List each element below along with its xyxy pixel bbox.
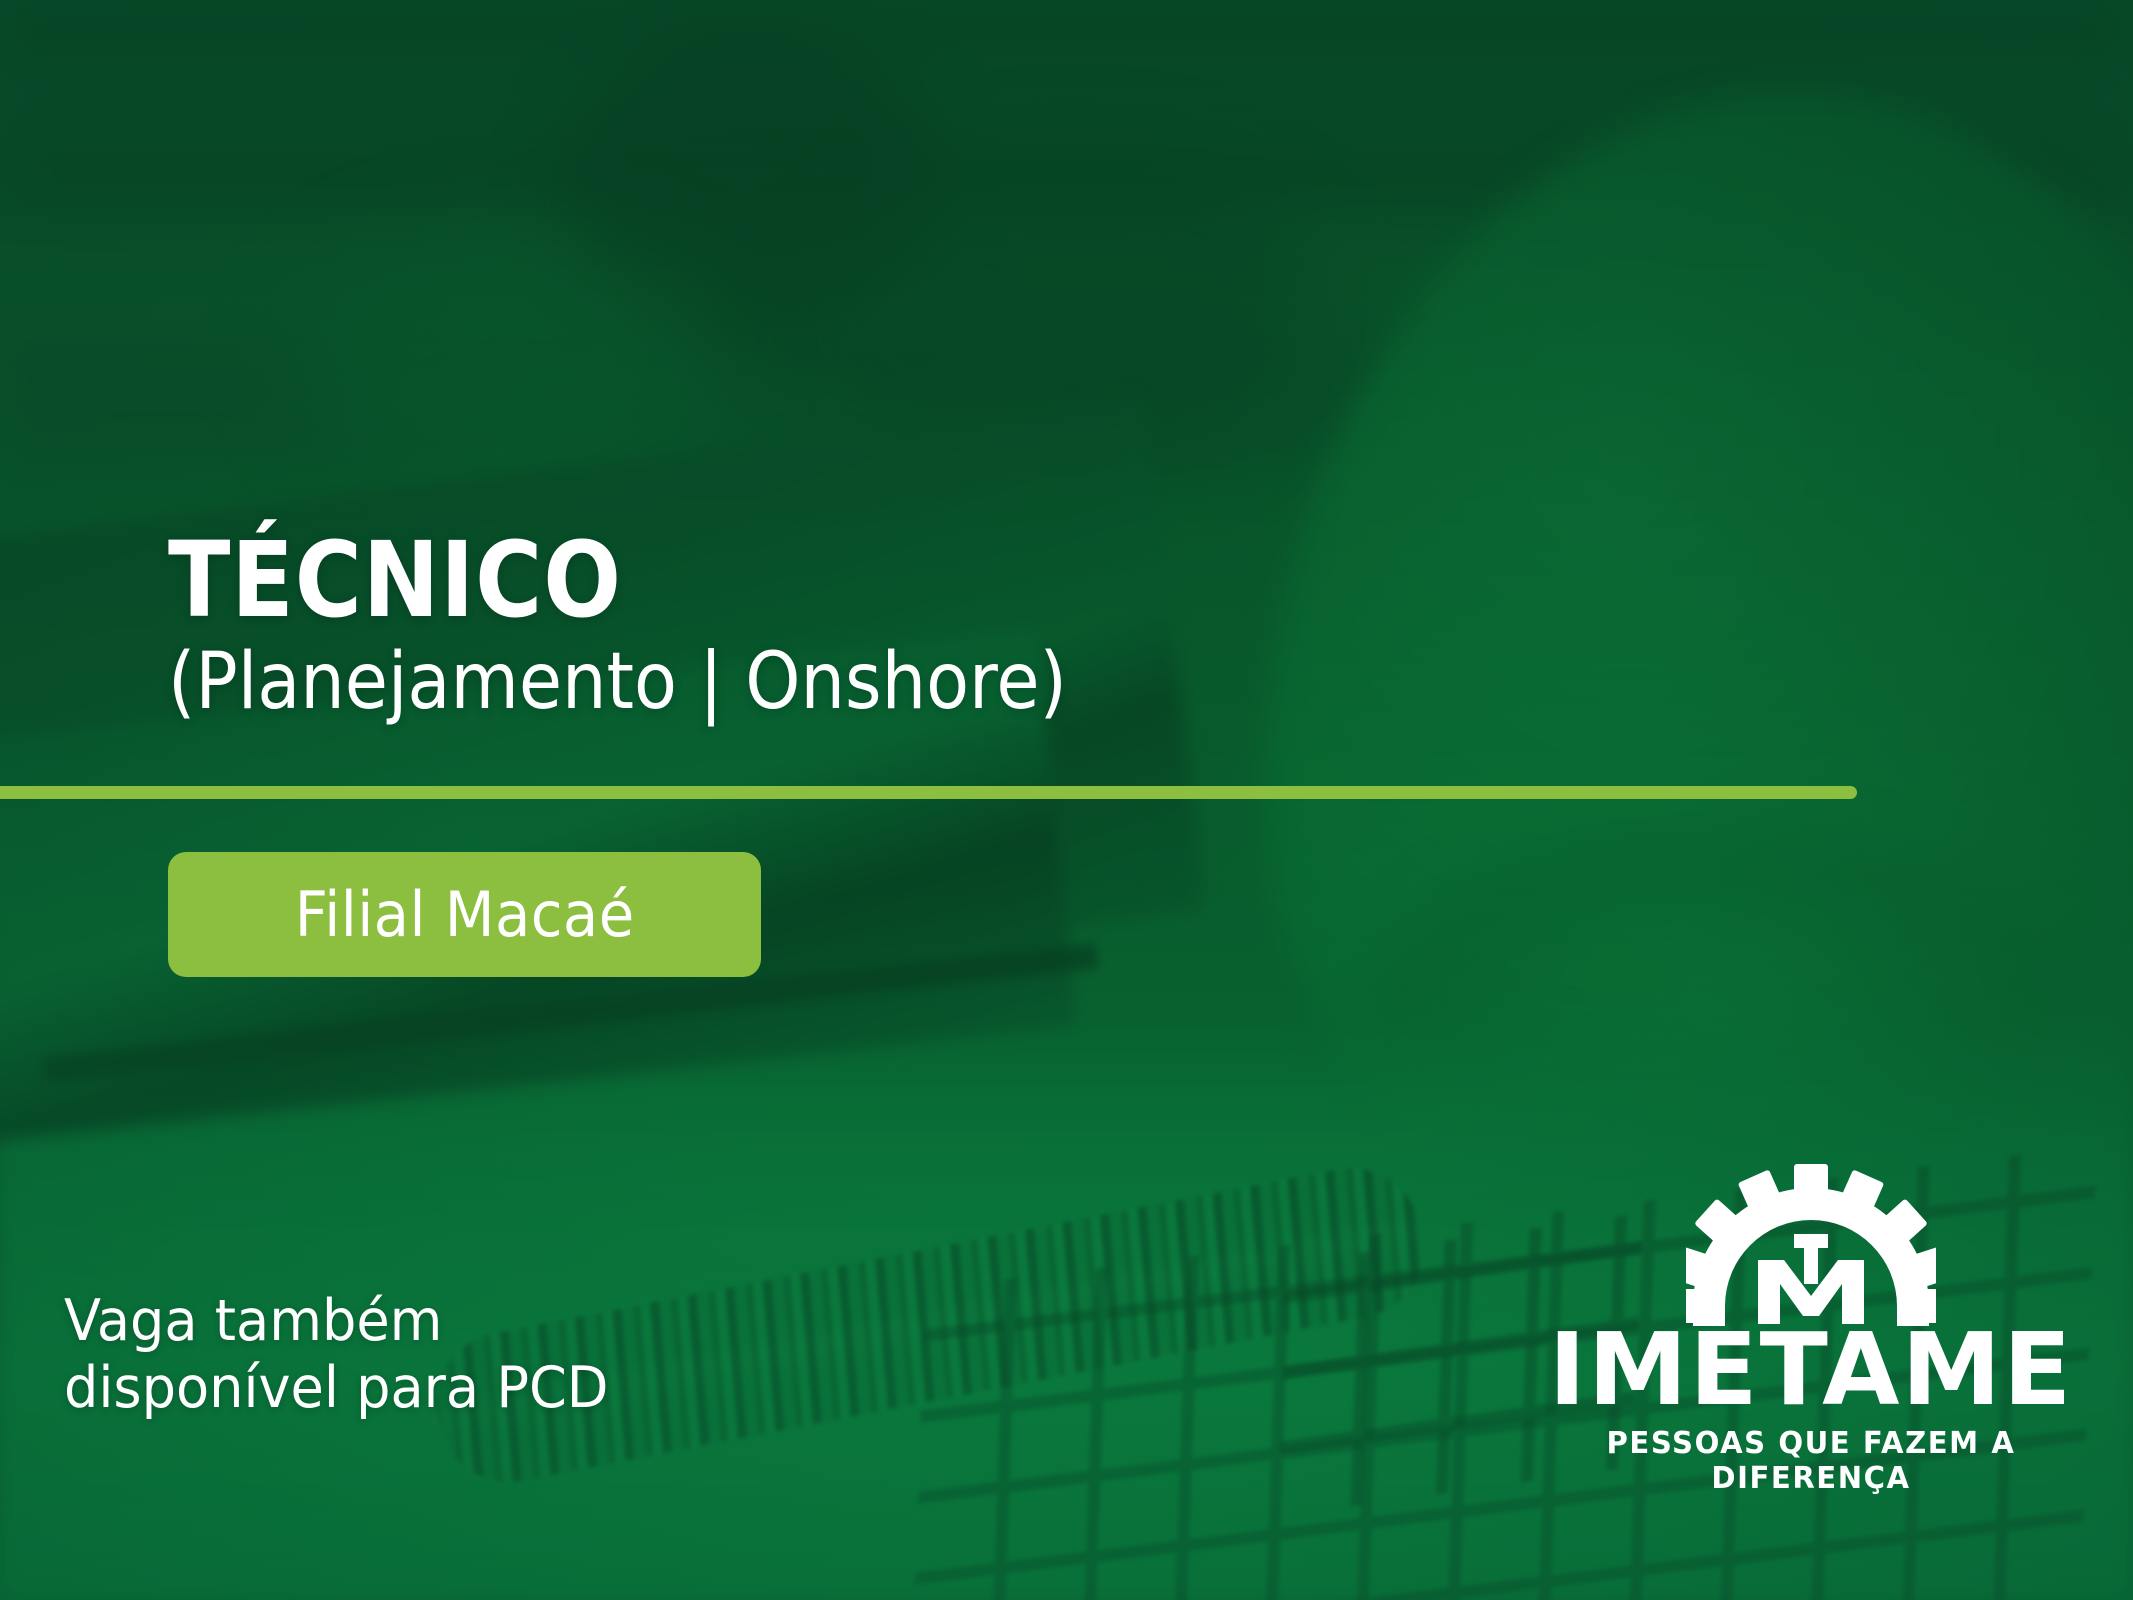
branch-badge: Filial Macaé [168, 852, 761, 977]
imetame-logo: IMETAME PESSOAS QUE FAZEM A DIFERENÇA [1541, 1156, 2081, 1496]
accent-divider [0, 786, 1857, 799]
page-title: TÉCNICO [168, 528, 1047, 632]
job-posting-poster: TÉCNICO (Planejamento | Onshore) Filial … [0, 0, 2133, 1600]
pcd-availability-note: Vaga também disponível para PCD [64, 1288, 608, 1423]
logo-wordmark: IMETAME [1541, 1322, 2081, 1418]
job-subtitle: (Planejamento | Onshore) [168, 642, 1067, 724]
job-title-block: TÉCNICO (Planejamento | Onshore) [168, 528, 1167, 724]
logo-tagline: PESSOAS QUE FAZEM A DIFERENÇA [1549, 1426, 2073, 1496]
poster-content: TÉCNICO (Planejamento | Onshore) Filial … [0, 0, 2133, 1600]
gear-monogram-icon [1541, 1156, 2081, 1326]
branch-badge-label: Filial Macaé [295, 878, 635, 951]
